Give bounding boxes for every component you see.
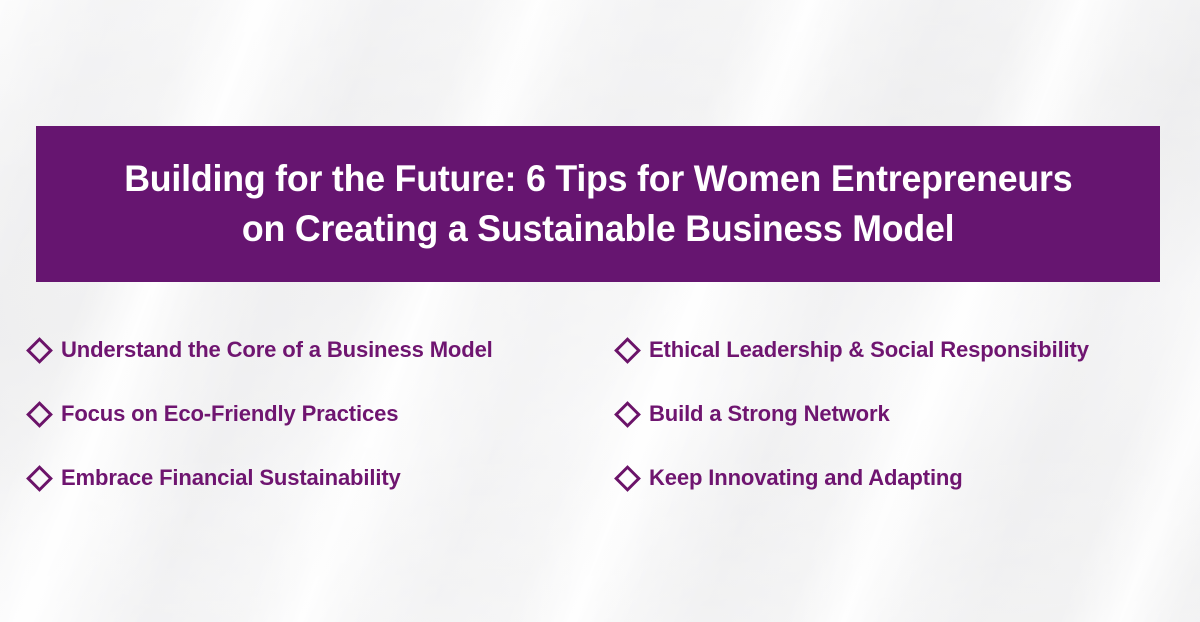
tip-item-keep-innovating: Keep Innovating and Adapting	[596, 465, 1200, 491]
diamond-outline-icon	[614, 465, 641, 492]
tip-label: Keep Innovating and Adapting	[649, 465, 963, 491]
diamond-outline-icon	[614, 401, 641, 428]
infographic-poster: Building for the Future: 6 Tips for Wome…	[0, 0, 1200, 622]
title-line-1: Building for the Future: 6 Tips for Wome…	[124, 154, 1072, 204]
tips-list: Understand the Core of a Business Model …	[0, 318, 1200, 510]
title-banner: Building for the Future: 6 Tips for Wome…	[36, 126, 1160, 282]
title-line-2: on Creating a Sustainable Business Model	[242, 204, 954, 254]
tip-label: Embrace Financial Sustainability	[61, 465, 401, 491]
tip-item-strong-network: Build a Strong Network	[596, 401, 1200, 427]
tip-item-eco-friendly: Focus on Eco-Friendly Practices	[0, 401, 596, 427]
diamond-outline-icon	[26, 401, 53, 428]
tip-label: Focus on Eco-Friendly Practices	[61, 401, 398, 427]
tip-label: Understand the Core of a Business Model	[61, 337, 493, 363]
diamond-outline-icon	[614, 337, 641, 364]
tip-item-understand-core: Understand the Core of a Business Model	[0, 337, 596, 363]
diamond-outline-icon	[26, 465, 53, 492]
tip-item-ethical-leadership: Ethical Leadership & Social Responsibili…	[596, 337, 1200, 363]
diamond-outline-icon	[26, 337, 53, 364]
background-vignette	[0, 0, 1200, 622]
tip-label: Build a Strong Network	[649, 401, 890, 427]
tip-label: Ethical Leadership & Social Responsibili…	[649, 337, 1089, 363]
tip-item-financial-sustainability: Embrace Financial Sustainability	[0, 465, 596, 491]
